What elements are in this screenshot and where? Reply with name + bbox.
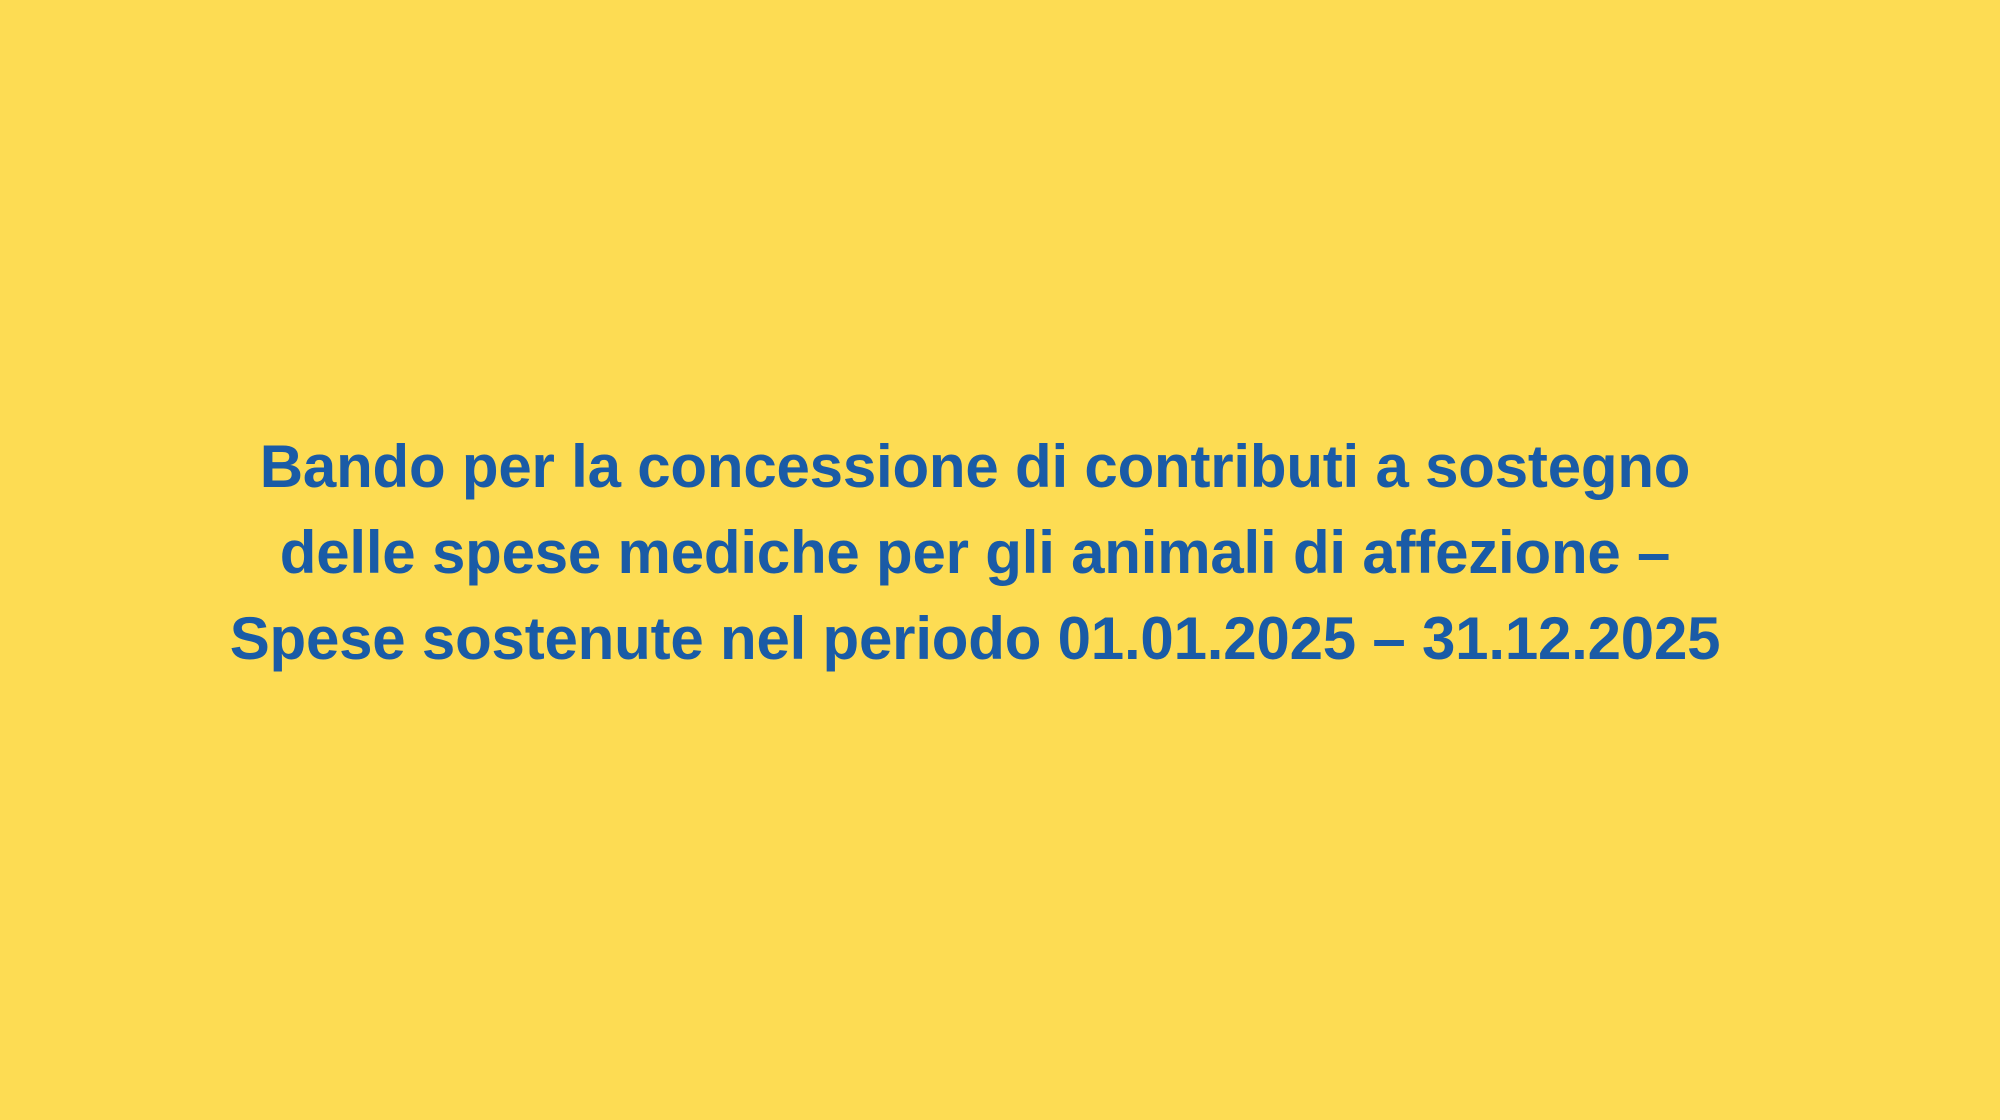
banner-content: Bando per la concessione di contributi a… <box>0 424 1975 682</box>
banner-title-line-1: Bando per la concessione di contributi a… <box>230 424 1721 510</box>
banner-title-line-3: Spese sostenute nel periodo 01.01.2025 –… <box>230 596 1721 682</box>
announcement-banner: Bando per la concessione di contributi a… <box>0 0 2000 1120</box>
banner-title: Bando per la concessione di contributi a… <box>230 424 1721 682</box>
banner-title-line-2: delle spese mediche per gli animali di a… <box>230 510 1721 596</box>
